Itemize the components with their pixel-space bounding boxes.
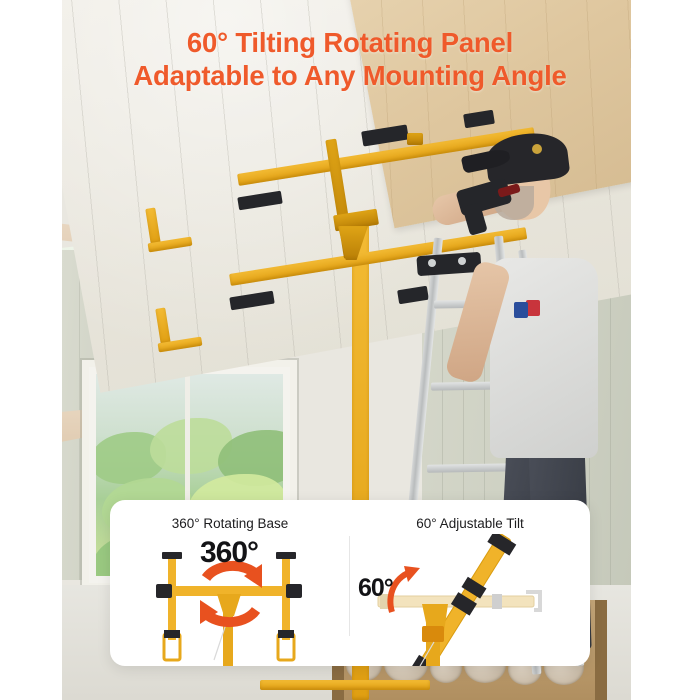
feature-card: 360° Rotating Base 360° [110, 500, 590, 666]
ladder-step-3 [427, 463, 515, 473]
lift-clamp [407, 133, 423, 145]
feature-title-rotating-base: 360° Rotating Base [110, 516, 350, 531]
adjustable-tilt-diagram: 60° [350, 534, 590, 666]
ladder-tray-hole-2 [458, 257, 466, 265]
headline-line-1: 60° Tilting Rotating Panel [0, 26, 700, 59]
feature-panel-adjustable-tilt: 60° Adjustable Tilt 60° [350, 500, 590, 666]
worker-cap-logo [532, 144, 542, 154]
callout-360: 360° [200, 536, 258, 570]
worker-shirt-logo [514, 300, 544, 320]
rotating-base-diagram: 360° [110, 534, 350, 666]
callout-60: 60° [358, 574, 393, 603]
feature-panel-rotating-base: 360° Rotating Base 360° [110, 500, 350, 666]
feature-title-adjustable-tilt: 60° Adjustable Tilt [350, 516, 590, 531]
product-feature-image: 60° Tilting Rotating Panel Adaptable to … [0, 0, 700, 700]
headline-line-2: Adaptable to Any Mounting Angle [0, 59, 700, 92]
ladder-tray-hole-1 [428, 259, 436, 267]
headline: 60° Tilting Rotating Panel Adaptable to … [0, 26, 700, 92]
lift-base-foot [260, 680, 430, 690]
